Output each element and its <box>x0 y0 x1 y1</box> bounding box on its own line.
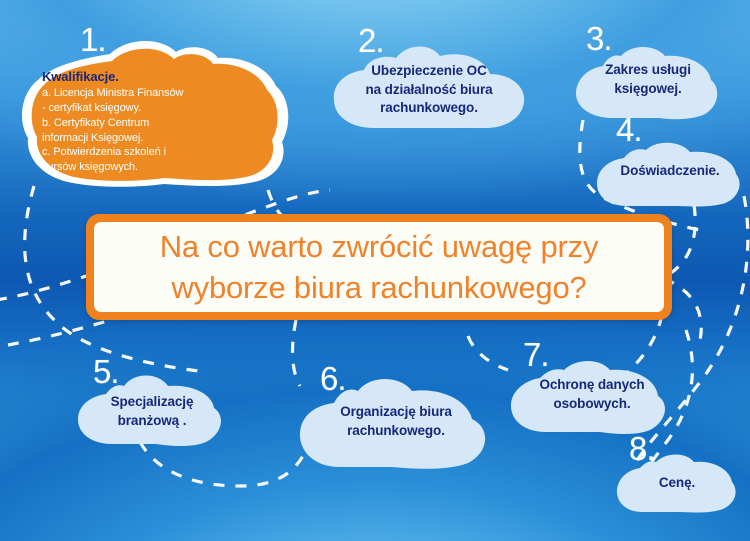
item-3-line-1: Zakres usługi <box>605 62 691 77</box>
item-5-text: Specjalizację branżową . <box>74 393 230 430</box>
item-number-3: 3. <box>586 22 612 55</box>
item-3-line-2: księgowej. <box>614 81 681 96</box>
item-3-text: Zakres usługi księgowej. <box>573 61 723 98</box>
item-2-line-1: Ubezpieczenie OC <box>371 63 486 78</box>
item-number-6: 6. <box>320 362 346 395</box>
item-7-text: Ochronę danych osobowych. <box>508 376 676 413</box>
item-number-8: 8. <box>629 432 655 465</box>
main-title-line-2: wyborze biura rachunkowego? <box>171 267 586 308</box>
item-cloud-1[interactable]: Kwalifikacje. a. Licencja Ministra Finan… <box>14 32 294 190</box>
item-8-text: Cenę. <box>614 474 740 493</box>
item-number-2: 2. <box>358 24 384 57</box>
item-1-line-5: c. Potwierdzenia szkoleń i <box>42 145 258 160</box>
item-cloud-4[interactable]: Doświadczenie. <box>594 140 746 208</box>
item-2-line-3: rachunkowego. <box>380 100 478 115</box>
item-1-line-6: kursów księgowych. <box>42 160 258 175</box>
item-1-line-3: b. Certyfikaty Centrum <box>42 116 258 131</box>
item-2-text: Ubezpieczenie OC na działalność biura ra… <box>330 62 528 118</box>
item-1-line-2: - certyfikat księgowy. <box>42 101 258 116</box>
item-7-line-1: Ochronę danych <box>539 377 644 392</box>
item-8-line-1: Cenę. <box>659 475 695 490</box>
item-7-line-2: osobowych. <box>553 396 630 411</box>
item-5-line-1: Specjalizację <box>111 394 194 409</box>
item-1-text: Kwalifikacje. a. Licencja Ministra Finan… <box>42 68 258 175</box>
item-number-1: 1. <box>80 23 106 56</box>
infographic-poster: Kwalifikacje. a. Licencja Ministra Finan… <box>0 0 750 541</box>
main-title-line-1: Na co warto zwrócić uwagę przy <box>160 226 599 267</box>
item-4-text: Doświadczenie. <box>594 162 746 181</box>
main-title-box: Na co warto zwrócić uwagę przy wyborze b… <box>86 214 672 320</box>
main-title-inner: Na co warto zwrócić uwagę przy wyborze b… <box>94 222 664 312</box>
item-6-text: Organizację biura rachunkowego. <box>296 403 496 440</box>
item-1-heading: Kwalifikacje. <box>42 68 258 85</box>
item-number-7: 7. <box>523 338 549 371</box>
item-5-line-2: branżową . <box>118 413 187 428</box>
item-1-line-4: informacji Księgowej. <box>42 131 258 146</box>
dash-curve-center-to-item7 <box>468 336 508 370</box>
item-4-line-1: Doświadczenie. <box>620 163 719 178</box>
item-6-line-1: Organizację biura <box>340 404 452 419</box>
item-2-line-2: na działalność biura <box>365 82 492 97</box>
item-1-line-1: a. Licencja Ministra Finansów <box>42 86 258 101</box>
item-number-4: 4. <box>616 113 642 146</box>
item-number-5: 5. <box>93 355 119 388</box>
item-6-line-2: rachunkowego. <box>347 423 445 438</box>
